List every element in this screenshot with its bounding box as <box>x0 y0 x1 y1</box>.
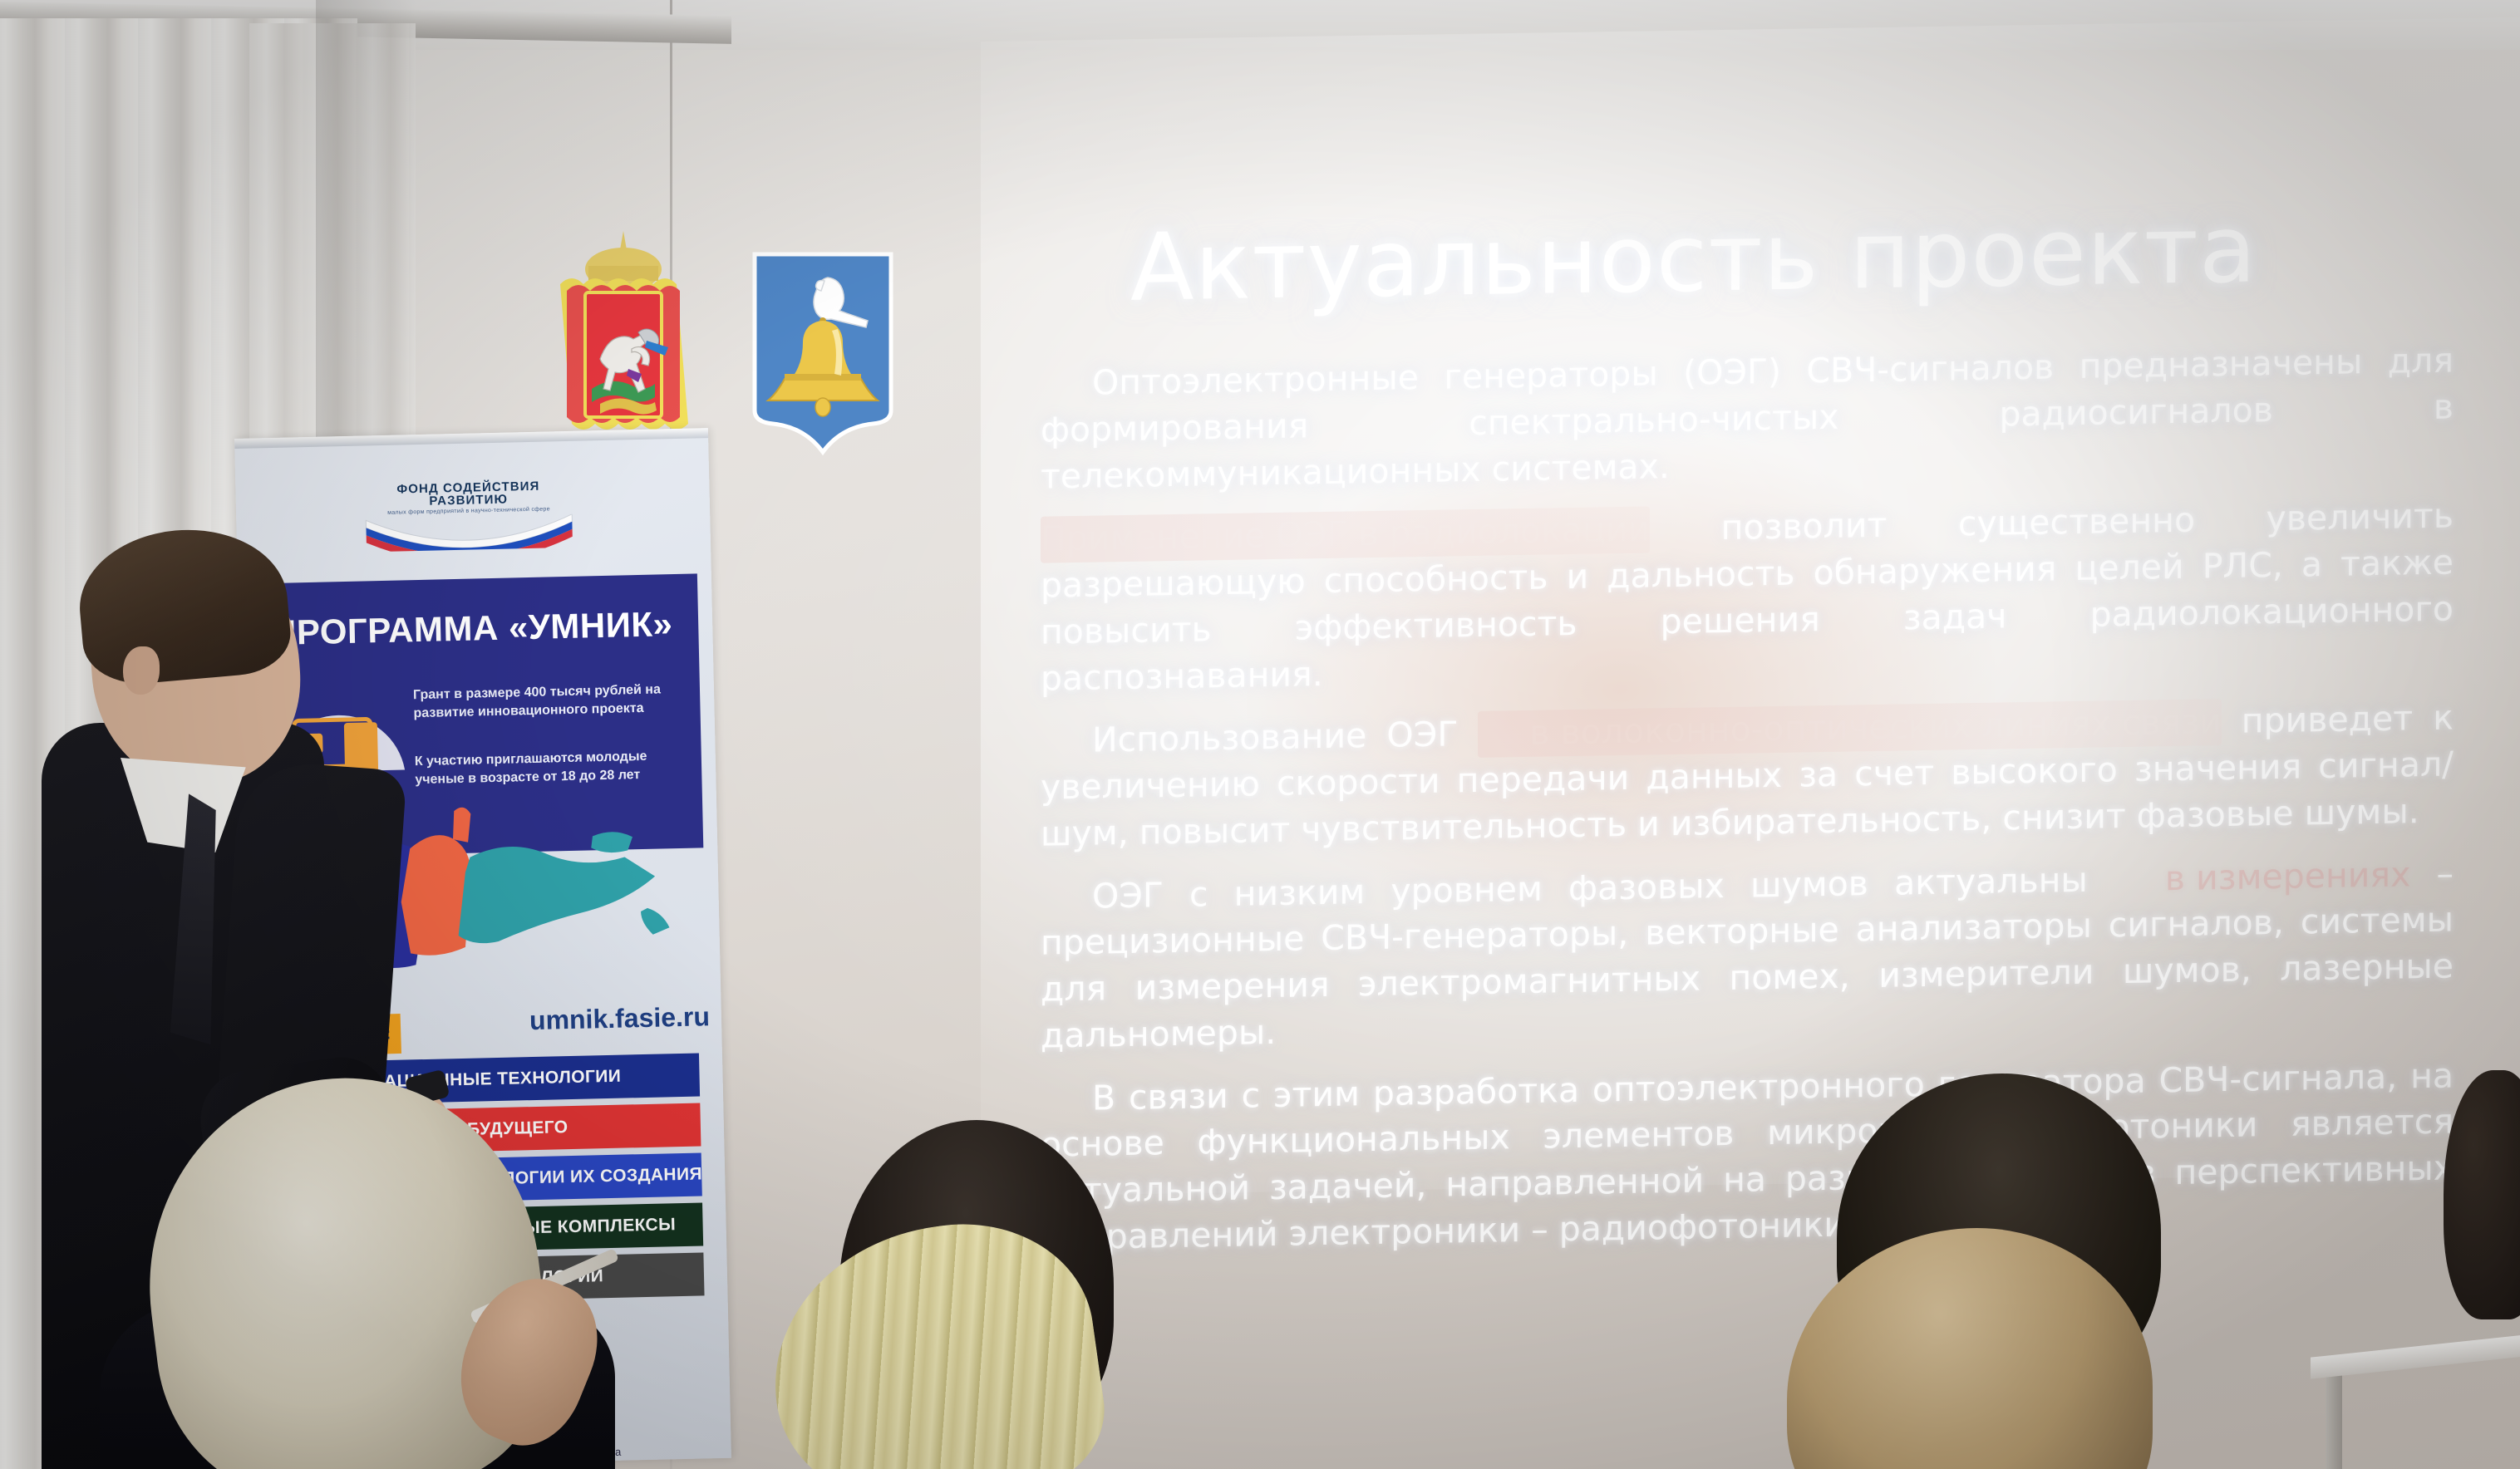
moscow-oblast-coat-of-arms-icon <box>549 226 698 459</box>
presentation-photo-scene: Актуальность проекта Оптоэлектронные ген… <box>0 0 2520 1469</box>
slide-paragraph-2: Применение ОЭГ в радиолокации позволит с… <box>1041 494 2454 702</box>
slide-paragraph-3-lead: Использование ОЭГ <box>1092 715 1458 760</box>
slide-title: Актуальность проекта <box>1130 195 2257 322</box>
projected-slide: Актуальность проекта Оптоэлектронные ген… <box>1022 133 2518 1155</box>
slide-paragraph-1: Оптоэлектронные генераторы (ОЭГ) СВЧ-сиг… <box>1041 337 2454 499</box>
slide-paragraph-4-text: прецизионные СВЧ-генераторы, векторные а… <box>1041 900 2454 1056</box>
umnik-grant-text: Грант в размере 400 тысяч рублей на разв… <box>413 680 688 723</box>
redacted-text-4: в измерениях <box>2114 852 2410 903</box>
umnik-eligibility-text: К участию приглашаются молодые ученые в … <box>415 747 690 789</box>
fund-logo: ФОНД СОДЕЙСТВИЯ РАЗВИТИЮ малых форм пред… <box>360 479 578 559</box>
slide-paragraph-4: ОЭГ с низким уровнем фазовых шумов актуа… <box>1041 851 2454 1059</box>
presenter-hair <box>74 521 294 688</box>
slide-body: Оптоэлектронные генераторы (ОЭГ) СВЧ-сиг… <box>1041 337 2454 1278</box>
slide-paragraph-5: В связи с этим разработка оптоэлектронно… <box>1041 1053 2454 1261</box>
slide-paragraph-4-dash: – <box>2436 853 2454 893</box>
bell-and-dove-coat-of-arms-icon <box>748 249 898 457</box>
slide-paragraph-3: Использование ОЭГ в волоконно-оптических… <box>1041 695 2454 857</box>
fund-logo-line1: ФОНД СОДЕЙСТВИЯ РАЗВИТИЮ <box>360 479 577 509</box>
desk-leg <box>2326 1376 2342 1469</box>
white-desk <box>2311 1334 2520 1469</box>
redacted-text-2: Применение ОЭГ в радиолокации <box>1041 507 1650 563</box>
presenter-ear <box>123 646 160 695</box>
russian-tricolor-swoosh-icon <box>361 514 578 553</box>
banner-website-url: umnik.fasie.ru <box>529 1001 711 1036</box>
